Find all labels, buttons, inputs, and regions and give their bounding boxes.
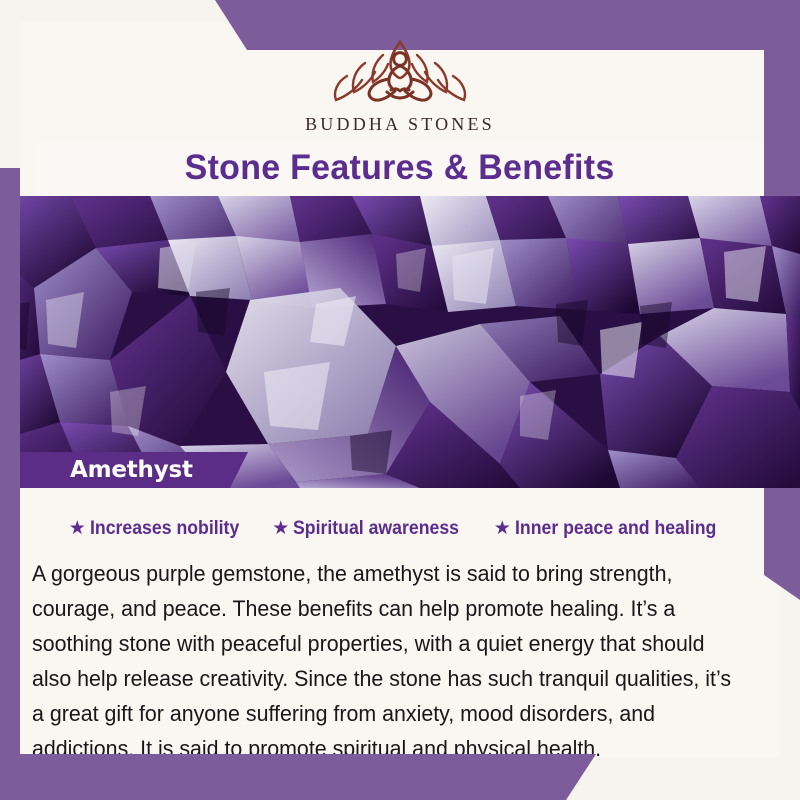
frame-left-bar	[0, 168, 20, 800]
brand-name: BUDDHA STONES	[305, 114, 495, 135]
benefits-row: ★ Increases nobility ★ Spiritual awarene…	[20, 518, 780, 540]
amethyst-photo	[0, 196, 800, 488]
star-icon: ★	[272, 519, 289, 538]
brand-logo: BUDDHA STONES	[20, 22, 780, 142]
page-title: Stone Features & Benefits	[185, 148, 615, 188]
stone-name-label: Amethyst	[20, 457, 193, 483]
benefit-item-2: ★ Spiritual awareness	[272, 518, 472, 540]
amethyst-crystal-cluster-illustration	[0, 196, 800, 488]
stone-name-banner: Amethyst	[20, 452, 248, 488]
star-icon: ★	[494, 519, 511, 538]
lotus-meditation-icon	[325, 30, 475, 112]
benefit-label-2: Spiritual awareness	[293, 518, 459, 540]
benefit-item-3: ★ Inner peace and healing	[494, 518, 732, 540]
stone-info-card: BUDDHA STONES Stone Features & Benefits	[0, 0, 800, 800]
benefit-label-3: Inner peace and healing	[515, 518, 716, 540]
stone-description: A gorgeous purple gemstone, the amethyst…	[32, 556, 743, 766]
benefit-label-1: Increases nobility	[90, 518, 239, 540]
benefit-item-1: ★ Increases nobility	[69, 518, 251, 540]
title-band: Stone Features & Benefits	[36, 142, 764, 194]
star-icon: ★	[69, 519, 86, 538]
